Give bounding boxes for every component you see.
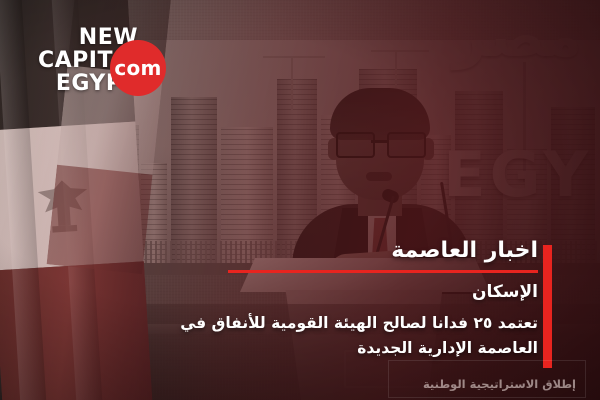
event-banner-text: إطلاق الاستراتيجية الوطنية — [423, 377, 576, 391]
news-graphic-card: مصر EGY — [0, 0, 600, 400]
com-badge: com — [110, 40, 166, 96]
accent-vertical-bar — [543, 245, 552, 368]
com-badge-label: com — [114, 56, 161, 80]
headline-deck-line-1: تعتمد ٢٥ فدانا لصالح الهيئة القومية للأن… — [108, 311, 538, 336]
headline-block: اخبار العاصمة الإسكان تعتمد ٢٥ فدانا لصا… — [108, 238, 538, 361]
section-label: الإسكان — [108, 282, 538, 302]
headline-deck-line-2: العاصمة الإدارية الجديدة — [108, 336, 538, 361]
brand-logo[interactable]: com NEW CAPITAL EGYPT — [38, 26, 188, 108]
kicker-text: اخبار العاصمة — [108, 238, 538, 263]
kicker-underline — [228, 270, 538, 273]
headline-deck: تعتمد ٢٥ فدانا لصالح الهيئة القومية للأن… — [108, 311, 538, 361]
